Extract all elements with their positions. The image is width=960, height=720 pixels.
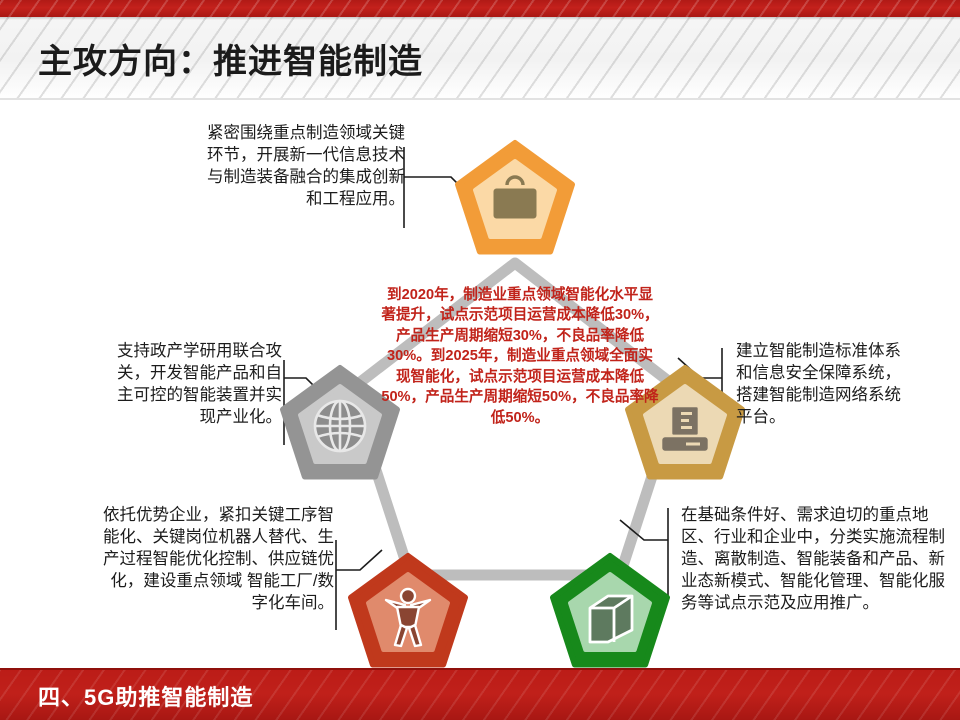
leader-line-bottom-left bbox=[336, 550, 382, 570]
caption-bottom-left: 依托优势企业，紧扣关键工序智能化、关键岗位机器人替代、生产过程智能优化控制、供应… bbox=[96, 504, 334, 615]
node-top[interactable] bbox=[458, 143, 572, 252]
slide-root: 主攻方向：推进智能制造 bbox=[0, 0, 960, 720]
pentagon-diagram: 到2020年，制造业重点领域智能化水平显著提升，试点示范项目运营成本降低30%，… bbox=[0, 100, 960, 668]
caption-bottom-right: 在基础条件好、需求迫切的重点地区、行业和企业中，分类实施流程制造、离散制造、智能… bbox=[681, 504, 953, 615]
header-bar-shadow bbox=[0, 17, 960, 20]
footer-section-title: 四、5G助推智能制造 bbox=[38, 680, 253, 712]
caption-top: 紧密围绕重点制造领域关键环节，开展新一代信息技术与制造装备融合的集成创新和工程应… bbox=[200, 122, 405, 210]
slide-header: 主攻方向：推进智能制造 bbox=[0, 0, 960, 100]
globe-icon bbox=[315, 401, 365, 451]
footer-top-divider bbox=[0, 668, 960, 670]
page-title: 主攻方向：推进智能制造 bbox=[38, 34, 423, 83]
header-red-bar bbox=[0, 0, 960, 17]
caption-left: 支持政产学研用联合攻关，开发智能产品和自主可控的智能装置并实现产业化。 bbox=[110, 340, 282, 428]
center-summary-text: 到2020年，制造业重点领域智能化水平显著提升，试点示范项目运营成本降低30%，… bbox=[380, 285, 660, 428]
caption-right: 建立智能制造标准体系和信息安全保障系统，搭建智能制造网络系统平台。 bbox=[736, 340, 914, 428]
